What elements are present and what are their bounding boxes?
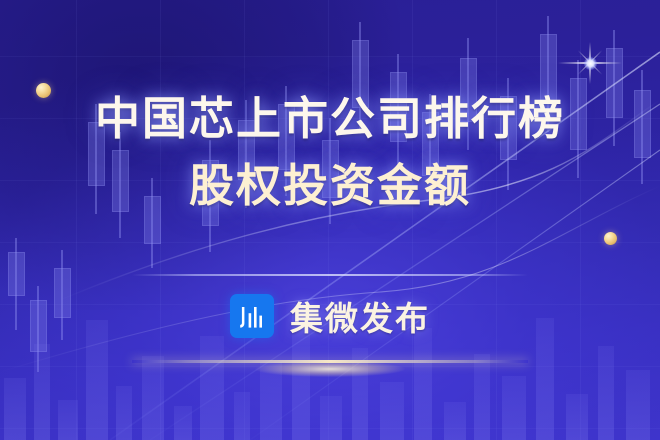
page-title-line-1: 中国芯上市公司排行榜 [95, 96, 565, 141]
poster-content: 中国芯上市公司排行榜 股权投资金额 [0, 0, 660, 440]
page-title-line-2: 股权投资金额 [189, 163, 471, 208]
poster-canvas: 中国芯上市公司排行榜 股权投资金额 集微发布 [0, 0, 660, 440]
